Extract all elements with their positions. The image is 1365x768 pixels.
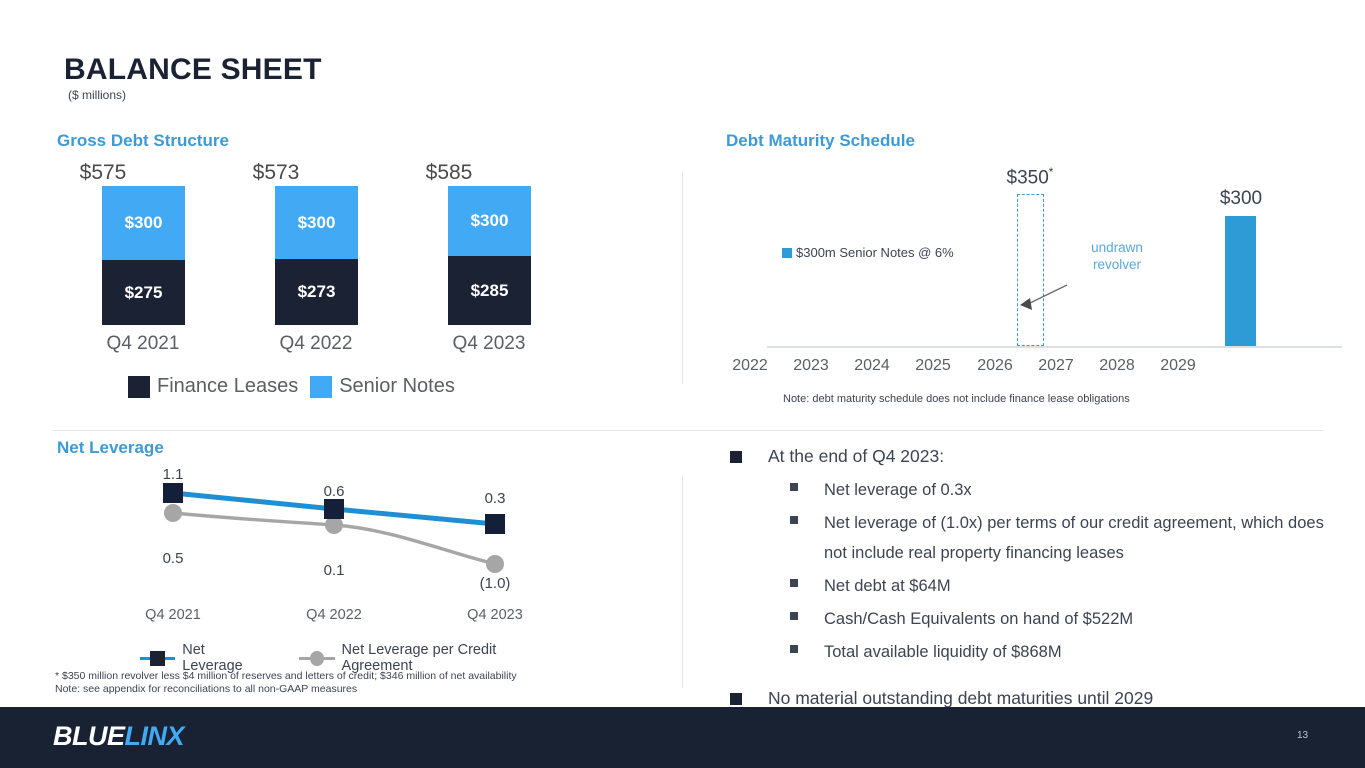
data-label-net-leverage: 1.1 (138, 466, 208, 483)
bar-segment-senior-notes: $300 (102, 186, 185, 260)
bar-segment-finance-leases: $285 (448, 256, 531, 325)
data-label-net-leverage-credit: 0.5 (138, 550, 208, 567)
bullet-level2: Net leverage of (1.0x) per terms of our … (790, 508, 1340, 568)
bullet-level2-text: Net leverage of 0.3x (824, 475, 972, 505)
bullet-level2: Net debt at $64M (790, 571, 1340, 601)
data-label-net-leverage: 0.3 (460, 490, 530, 507)
page-number: 13 (1297, 730, 1308, 741)
bar-total-label: $573 (216, 161, 336, 185)
footnote-line-1: * $350 million revolver less $4 million … (55, 670, 517, 683)
bar-category-label: Q4 2022 (246, 333, 386, 355)
axis-tick-label: 2023 (776, 357, 846, 375)
legend-line-blue (165, 657, 175, 660)
bar-undrawn-revolver (1017, 194, 1044, 346)
bar-segment-finance-leases: $275 (102, 260, 185, 325)
chart-debt-maturity-schedule: $350* $300 $300m Senior Notes @ 6% 2022 … (682, 0, 1365, 430)
bullet-small-square-icon (790, 612, 798, 620)
legend-swatch-finance-leases (128, 376, 150, 398)
legend-swatch-senior-notes (310, 376, 332, 398)
chart-note: Note: debt maturity schedule does not in… (783, 393, 1130, 405)
axis-category-label: Q4 2021 (113, 607, 233, 623)
logo-text-blue: BLUE (53, 721, 125, 751)
legend-marker-square (150, 651, 164, 666)
footer-bar (0, 707, 1365, 768)
axis-tick-label: 2025 (898, 357, 968, 375)
bullet-square-icon (730, 451, 742, 463)
bullet-level2: Cash/Cash Equivalents on hand of $522M (790, 604, 1340, 634)
slide: BALANCE SHEET ($ millions) Gross Debt St… (0, 0, 1365, 768)
bullet-list: At the end of Q4 2023: Net leverage of 0… (730, 444, 1340, 717)
legend-label-senior-notes-6pct: $300m Senior Notes @ 6% (796, 245, 954, 260)
bullet-level1: At the end of Q4 2023: (730, 444, 1340, 469)
bullet-level2-text: Net debt at $64M (824, 571, 951, 601)
axis-tick-label: 2022 (715, 357, 785, 375)
bullet-level1-text: At the end of Q4 2023: (768, 444, 944, 469)
bar-segment-finance-leases: $273 (275, 259, 358, 325)
axis-tick-label: 2027 (1021, 357, 1091, 375)
legend-swatch-senior-notes-6pct (782, 248, 792, 258)
bullet-small-square-icon (790, 483, 798, 491)
bullet-level2-text: Net leverage of (1.0x) per terms of our … (824, 508, 1340, 568)
axis-category-label: Q4 2023 (435, 607, 555, 623)
bar-total-label: $585 (389, 161, 509, 185)
bar-value-label-senior-notes: $300 (1181, 188, 1301, 210)
bullet-small-square-icon (790, 579, 798, 587)
chart-gross-debt-structure: $575 $573 $585 $300 $275 $300 $273 $300 … (0, 0, 682, 430)
bar-category-label: Q4 2021 (73, 333, 213, 355)
axis-left-tick (767, 172, 768, 346)
footnote-line-2: Note: see appendix for reconciliations t… (55, 683, 517, 696)
chart-net-leverage: 1.1 0.6 0.3 0.5 0.1 (1.0) Q4 2021 Q4 202… (0, 430, 682, 700)
legend-line-gray (324, 657, 335, 660)
legend-line-gray (299, 657, 310, 660)
bullet-level2: Total available liquidity of $868M (790, 637, 1340, 667)
bar-category-label: Q4 2023 (419, 333, 559, 355)
legend-line-blue (140, 657, 150, 660)
axis-tick-label: 2026 (960, 357, 1030, 375)
bullet-level2: Net leverage of 0.3x (790, 475, 1340, 505)
data-label-net-leverage: 0.6 (299, 483, 369, 500)
bullet-level2-text: Cash/Cash Equivalents on hand of $522M (824, 604, 1133, 634)
divider-vertical-bottom (682, 476, 683, 688)
legend-marker-circle (310, 651, 324, 666)
bluelinx-logo: BLUELINX (53, 721, 184, 752)
legend-gross-debt: Finance Leases Senior Notes (128, 375, 455, 398)
footnotes: * $350 million revolver less $4 million … (55, 670, 517, 696)
axis-tick-label: 2024 (837, 357, 907, 375)
legend-debt-maturity: $300m Senior Notes @ 6% (782, 245, 954, 260)
axis-tick-label: 2028 (1082, 357, 1152, 375)
axis-baseline (767, 346, 1342, 348)
bar-total-label: $575 (43, 161, 163, 185)
bar-value-label-revolver: $350* (970, 165, 1090, 189)
bullet-small-square-icon (790, 516, 798, 524)
axis-tick-label: 2029 (1143, 357, 1213, 375)
bar-senior-notes-2029 (1225, 216, 1256, 346)
bullet-small-square-icon (790, 645, 798, 653)
legend-label-senior-notes: Senior Notes (339, 375, 455, 398)
bar-segment-senior-notes: $300 (448, 186, 531, 256)
bar-segment-senior-notes: $300 (275, 186, 358, 259)
axis-category-label: Q4 2022 (274, 607, 394, 623)
annotation-undrawn-revolver: undrawn revolver (1072, 239, 1162, 273)
data-label-net-leverage-credit: 0.1 (299, 562, 369, 579)
legend-label-finance-leases: Finance Leases (157, 375, 298, 398)
bullet-level2-text: Total available liquidity of $868M (824, 637, 1062, 667)
bullet-square-icon (730, 693, 742, 705)
logo-text-linx: LINX (125, 721, 185, 751)
data-label-net-leverage-credit: (1.0) (460, 575, 530, 592)
